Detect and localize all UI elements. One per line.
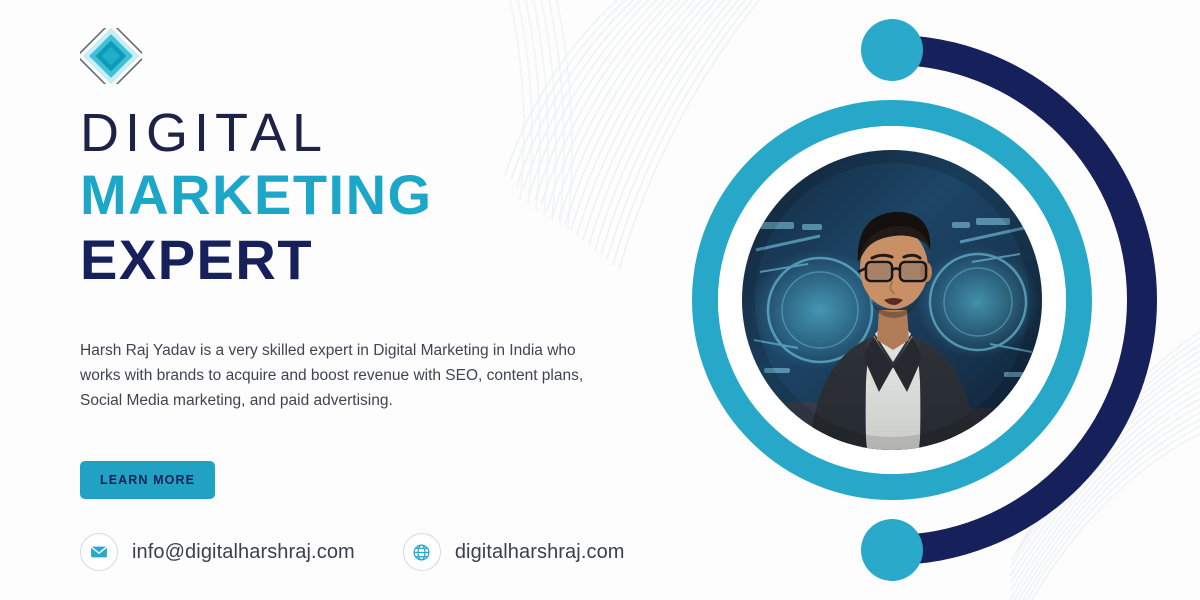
headline-line-expert: EXPERT <box>80 229 640 292</box>
banner-root: DIGITAL MARKETING EXPERT Harsh Raj Yadav… <box>0 0 1200 600</box>
arc-dot-top <box>861 19 923 81</box>
portrait-composition <box>660 10 1200 590</box>
arc-dot-bottom <box>861 519 923 581</box>
description-paragraph: Harsh Raj Yadav is a very skilled expert… <box>80 338 604 413</box>
headline-block: DIGITAL MARKETING EXPERT <box>80 104 640 292</box>
envelope-icon <box>80 533 118 571</box>
globe-icon <box>403 533 441 571</box>
contact-website-label: digitalharshraj.com <box>455 541 625 564</box>
left-content-column: DIGITAL MARKETING EXPERT Harsh Raj Yadav… <box>76 0 676 600</box>
headline-line-marketing: MARKETING <box>80 164 640 227</box>
contact-item-website[interactable]: digitalharshraj.com <box>403 533 625 571</box>
contact-item-email[interactable]: info@digitalharshraj.com <box>80 533 355 571</box>
diamond-layered-logo-icon[interactable] <box>80 28 142 84</box>
contact-email-label: info@digitalharshraj.com <box>132 541 355 564</box>
contact-row: info@digitalharshraj.com digitalhars <box>80 533 625 571</box>
headline-line-digital: DIGITAL <box>80 104 640 162</box>
learn-more-button[interactable]: LEARN MORE <box>80 461 215 499</box>
